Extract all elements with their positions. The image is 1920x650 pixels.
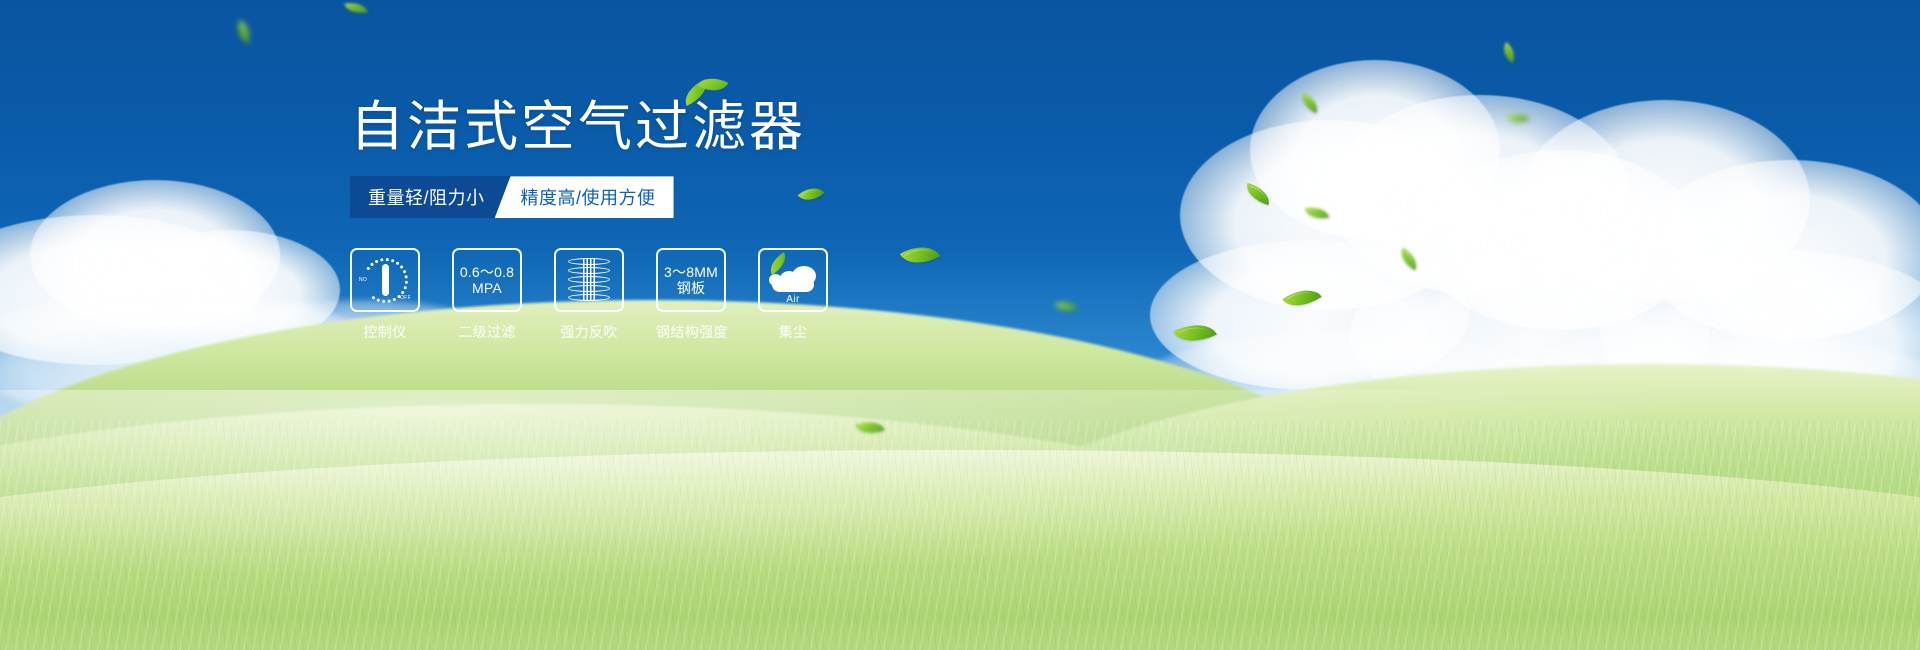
cloud-shape xyxy=(560,350,860,480)
feature-item-steel[interactable]: 3～8MM 钢板 钢结构强度 xyxy=(656,248,726,342)
hero-content: 自洁式空气过滤器 重量轻/阻力小 精度高/使用方便 xyxy=(350,98,1110,342)
feature-caption: 二级过滤 xyxy=(452,322,522,342)
grass-texture xyxy=(0,420,1920,650)
tab-label: 精度高/使用方便 xyxy=(521,184,656,210)
cloud-shape xyxy=(1520,100,1810,300)
leaf-icon xyxy=(1282,280,1321,316)
steel-line-1: 3～8MM xyxy=(664,264,718,280)
dial-pointer xyxy=(382,264,389,296)
feature-item-backblow[interactable]: 强力反吹 xyxy=(554,248,624,342)
air-label: Air xyxy=(766,294,820,305)
feature-caption: 钢结构强度 xyxy=(656,322,726,342)
pressure-text-icon: 0.6～0.8 MPA xyxy=(460,264,514,296)
leaf-icon xyxy=(1243,183,1272,205)
leaf-icon xyxy=(233,20,254,44)
cloud-shape xyxy=(260,360,600,470)
title-leaf-icon xyxy=(682,74,728,108)
cloud-shape xyxy=(1120,330,1570,470)
feature-item-pressure[interactable]: 0.6～0.8 MPA 二级过滤 xyxy=(452,248,522,342)
pressure-line-2: MPA xyxy=(460,280,514,296)
air-cloud-icon: Air xyxy=(766,258,820,302)
leaf-icon xyxy=(1396,247,1422,270)
dial-off-label: OFF xyxy=(400,295,411,301)
cloud-shape xyxy=(880,400,1180,500)
leaf-icon xyxy=(855,416,885,439)
cloud-shape xyxy=(350,420,1250,530)
leaf-icon xyxy=(344,1,367,16)
feature-caption: 强力反吹 xyxy=(554,322,624,342)
cloud-shape xyxy=(1180,120,1480,310)
cloud-shape xyxy=(1600,250,1920,420)
tab-precision-convenience[interactable]: 精度高/使用方便 xyxy=(495,176,674,218)
cloud-shape xyxy=(1330,95,1630,295)
steel-line-2: 钢板 xyxy=(664,280,718,296)
feature-item-dust[interactable]: Air 集尘 xyxy=(758,248,828,342)
cloud-shape xyxy=(1050,380,1920,530)
leaf-icon xyxy=(1506,109,1529,128)
feature-caption: 控制仪 xyxy=(350,322,420,342)
cloud-shape xyxy=(300,375,530,465)
page-title: 自洁式空气过滤器 xyxy=(350,98,1110,156)
feature-icon-box: NO OFF xyxy=(350,248,420,312)
feature-icon-box xyxy=(554,248,624,312)
filter-coil-icon xyxy=(566,257,612,303)
leaf-icon xyxy=(1298,93,1322,114)
cloud-shape xyxy=(470,390,770,490)
cloud-shape xyxy=(1420,150,1700,330)
grass-highlight xyxy=(0,390,1920,610)
cloud-shape xyxy=(1250,60,1500,240)
cloud-shape xyxy=(1350,250,1710,420)
cloud-shape xyxy=(0,330,540,460)
steel-plate-text-icon: 3～8MM 钢板 xyxy=(664,264,718,296)
feature-icon-box: Air xyxy=(758,248,828,312)
cloud-shape xyxy=(0,290,380,420)
hill-mid xyxy=(0,404,1421,604)
cloud-shape xyxy=(30,180,280,330)
cloud-shape xyxy=(120,230,340,350)
feature-icon-box: 0.6～0.8 MPA xyxy=(452,248,522,312)
feature-tabs: 重量轻/阻力小 精度高/使用方便 xyxy=(350,176,673,218)
pressure-line-1: 0.6～0.8 xyxy=(460,264,514,280)
feature-icon-box: 3～8MM 钢板 xyxy=(656,248,726,312)
tab-label: 重量轻/阻力小 xyxy=(368,184,485,210)
control-dial-icon: NO OFF xyxy=(360,257,410,303)
cloud-shape xyxy=(1450,330,1920,480)
hill-right xyxy=(960,364,1920,554)
grass-landscape xyxy=(0,350,1920,650)
product-hero-banner: 自洁式空气过滤器 重量轻/阻力小 精度高/使用方便 xyxy=(0,0,1920,650)
cloud-shape xyxy=(830,385,1030,480)
cloud-shape xyxy=(600,395,980,505)
tab-weight-resistance[interactable]: 重量轻/阻力小 xyxy=(350,176,511,218)
leaf-icon xyxy=(1173,315,1217,351)
cloud-shape xyxy=(1640,160,1920,340)
cloud-shape xyxy=(1150,240,1470,390)
leaf-icon xyxy=(1305,204,1329,222)
leaf-icon xyxy=(1498,42,1520,64)
feature-caption: 集尘 xyxy=(758,322,828,342)
dial-on-label: NO xyxy=(359,277,367,283)
hill-near xyxy=(0,450,1920,650)
cloud-shape xyxy=(0,430,600,540)
feature-item-control[interactable]: NO OFF 控制仪 xyxy=(350,248,420,342)
cloud-shape xyxy=(0,215,260,365)
feature-list: NO OFF 控制仪 0.6～0.8 MPA 二级过滤 xyxy=(350,248,1110,342)
